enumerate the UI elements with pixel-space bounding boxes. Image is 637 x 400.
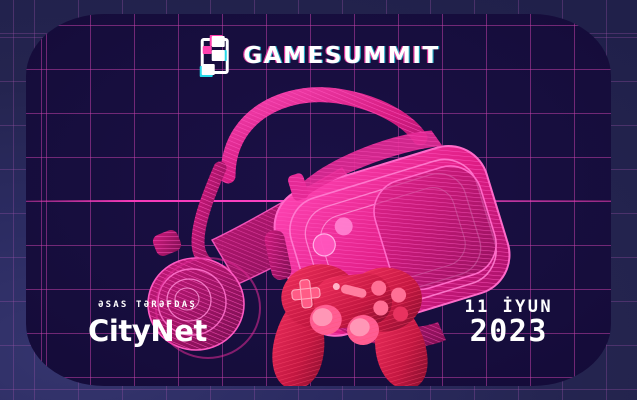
main-partner-name: CityNet (88, 314, 207, 348)
gamesummit-logo-lockup: GAMESUMMIT (197, 36, 440, 76)
event-date-block: 11 İYUN 2023 (465, 297, 553, 348)
gs-blocks-logo-icon (197, 36, 231, 76)
gamesummit-wordmark: GAMESUMMIT (243, 43, 440, 69)
event-date-year: 2023 (465, 317, 553, 348)
crt-screen-panel: GAMESUMMIT ƏSAS TƏRƏFDAŞ CityNet 11 İYUN… (26, 14, 611, 386)
main-partner-block: ƏSAS TƏRƏFDAŞ CityNet (88, 300, 207, 348)
main-partner-label: ƏSAS TƏRƏFDAŞ (88, 300, 207, 310)
event-banner: GAMESUMMIT ƏSAS TƏRƏFDAŞ CityNet 11 İYUN… (0, 0, 637, 400)
horizon-line (26, 200, 611, 202)
